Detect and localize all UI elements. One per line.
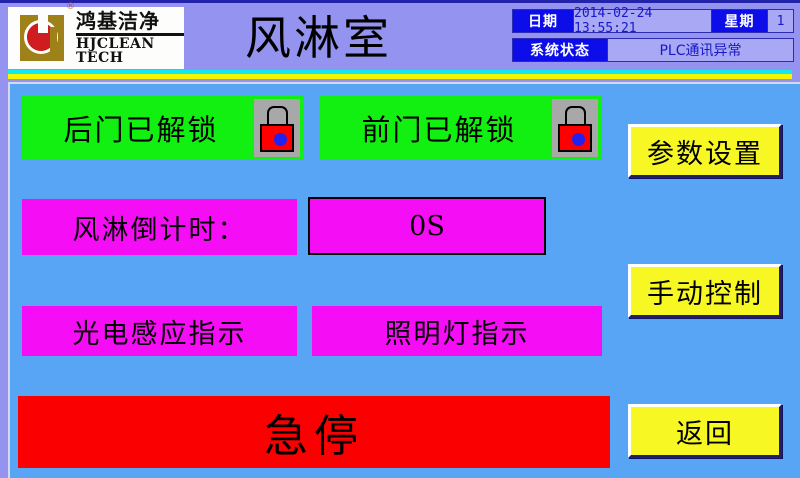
padlock-unlocked-icon	[552, 99, 598, 157]
system-status-label: 系统状态	[512, 38, 608, 62]
registered-mark-icon: ®	[66, 3, 75, 12]
logo-mark-icon	[16, 13, 68, 63]
system-status-row: 系统状态 PLC通讯异常	[512, 38, 794, 62]
date-row: 日期 2014-02-24 13:55:21 星期 1	[512, 9, 794, 33]
header-bar: ® 鸿基洁净 HJCLEAN TECH 风淋室 日期 2014-02-24 13…	[0, 3, 800, 70]
photo-sensor-indicator[interactable]: 光电感应指示	[22, 306, 297, 356]
date-label: 日期	[512, 9, 574, 33]
countdown-label: 风淋倒计时：	[22, 199, 297, 255]
hmi-screen: ® 鸿基洁净 HJCLEAN TECH 风淋室 日期 2014-02-24 13…	[0, 0, 800, 478]
padlock-unlocked-icon	[254, 99, 300, 157]
rear-door-status[interactable]: 后门已解锁	[22, 96, 304, 160]
emergency-stop-button[interactable]: 急停	[18, 396, 610, 468]
week-label: 星期	[712, 9, 768, 33]
logo-english-name: HJCLEAN TECH	[76, 37, 184, 65]
company-logo: ® 鸿基洁净 HJCLEAN TECH	[8, 7, 184, 69]
logo-chinese-name: 鸿基洁净	[76, 11, 184, 31]
parameter-settings-button[interactable]: 参数设置	[628, 124, 782, 178]
date-value: 2014-02-24 13:55:21	[574, 9, 712, 33]
system-status-value: PLC通讯异常	[608, 38, 794, 62]
logo-text: ® 鸿基洁净 HJCLEAN TECH	[76, 11, 184, 65]
countdown-value: 0S	[308, 197, 546, 255]
week-value: 1	[768, 9, 794, 33]
status-panel: 日期 2014-02-24 13:55:21 星期 1 系统状态 PLC通讯异常	[512, 9, 794, 67]
return-button[interactable]: 返回	[628, 404, 782, 458]
manual-control-button[interactable]: 手动控制	[628, 264, 782, 318]
front-door-label: 前门已解锁	[320, 107, 552, 149]
main-panel: 后门已解锁 前门已解锁 风淋倒计时： 0S 光电感应指示 照明灯指示 急停 参数…	[8, 82, 800, 478]
front-door-status[interactable]: 前门已解锁	[320, 96, 602, 160]
yellow-stripe	[8, 74, 792, 79]
page-title: 风淋室	[245, 11, 392, 65]
lamp-indicator[interactable]: 照明灯指示	[312, 306, 602, 356]
rear-door-label: 后门已解锁	[22, 107, 254, 149]
